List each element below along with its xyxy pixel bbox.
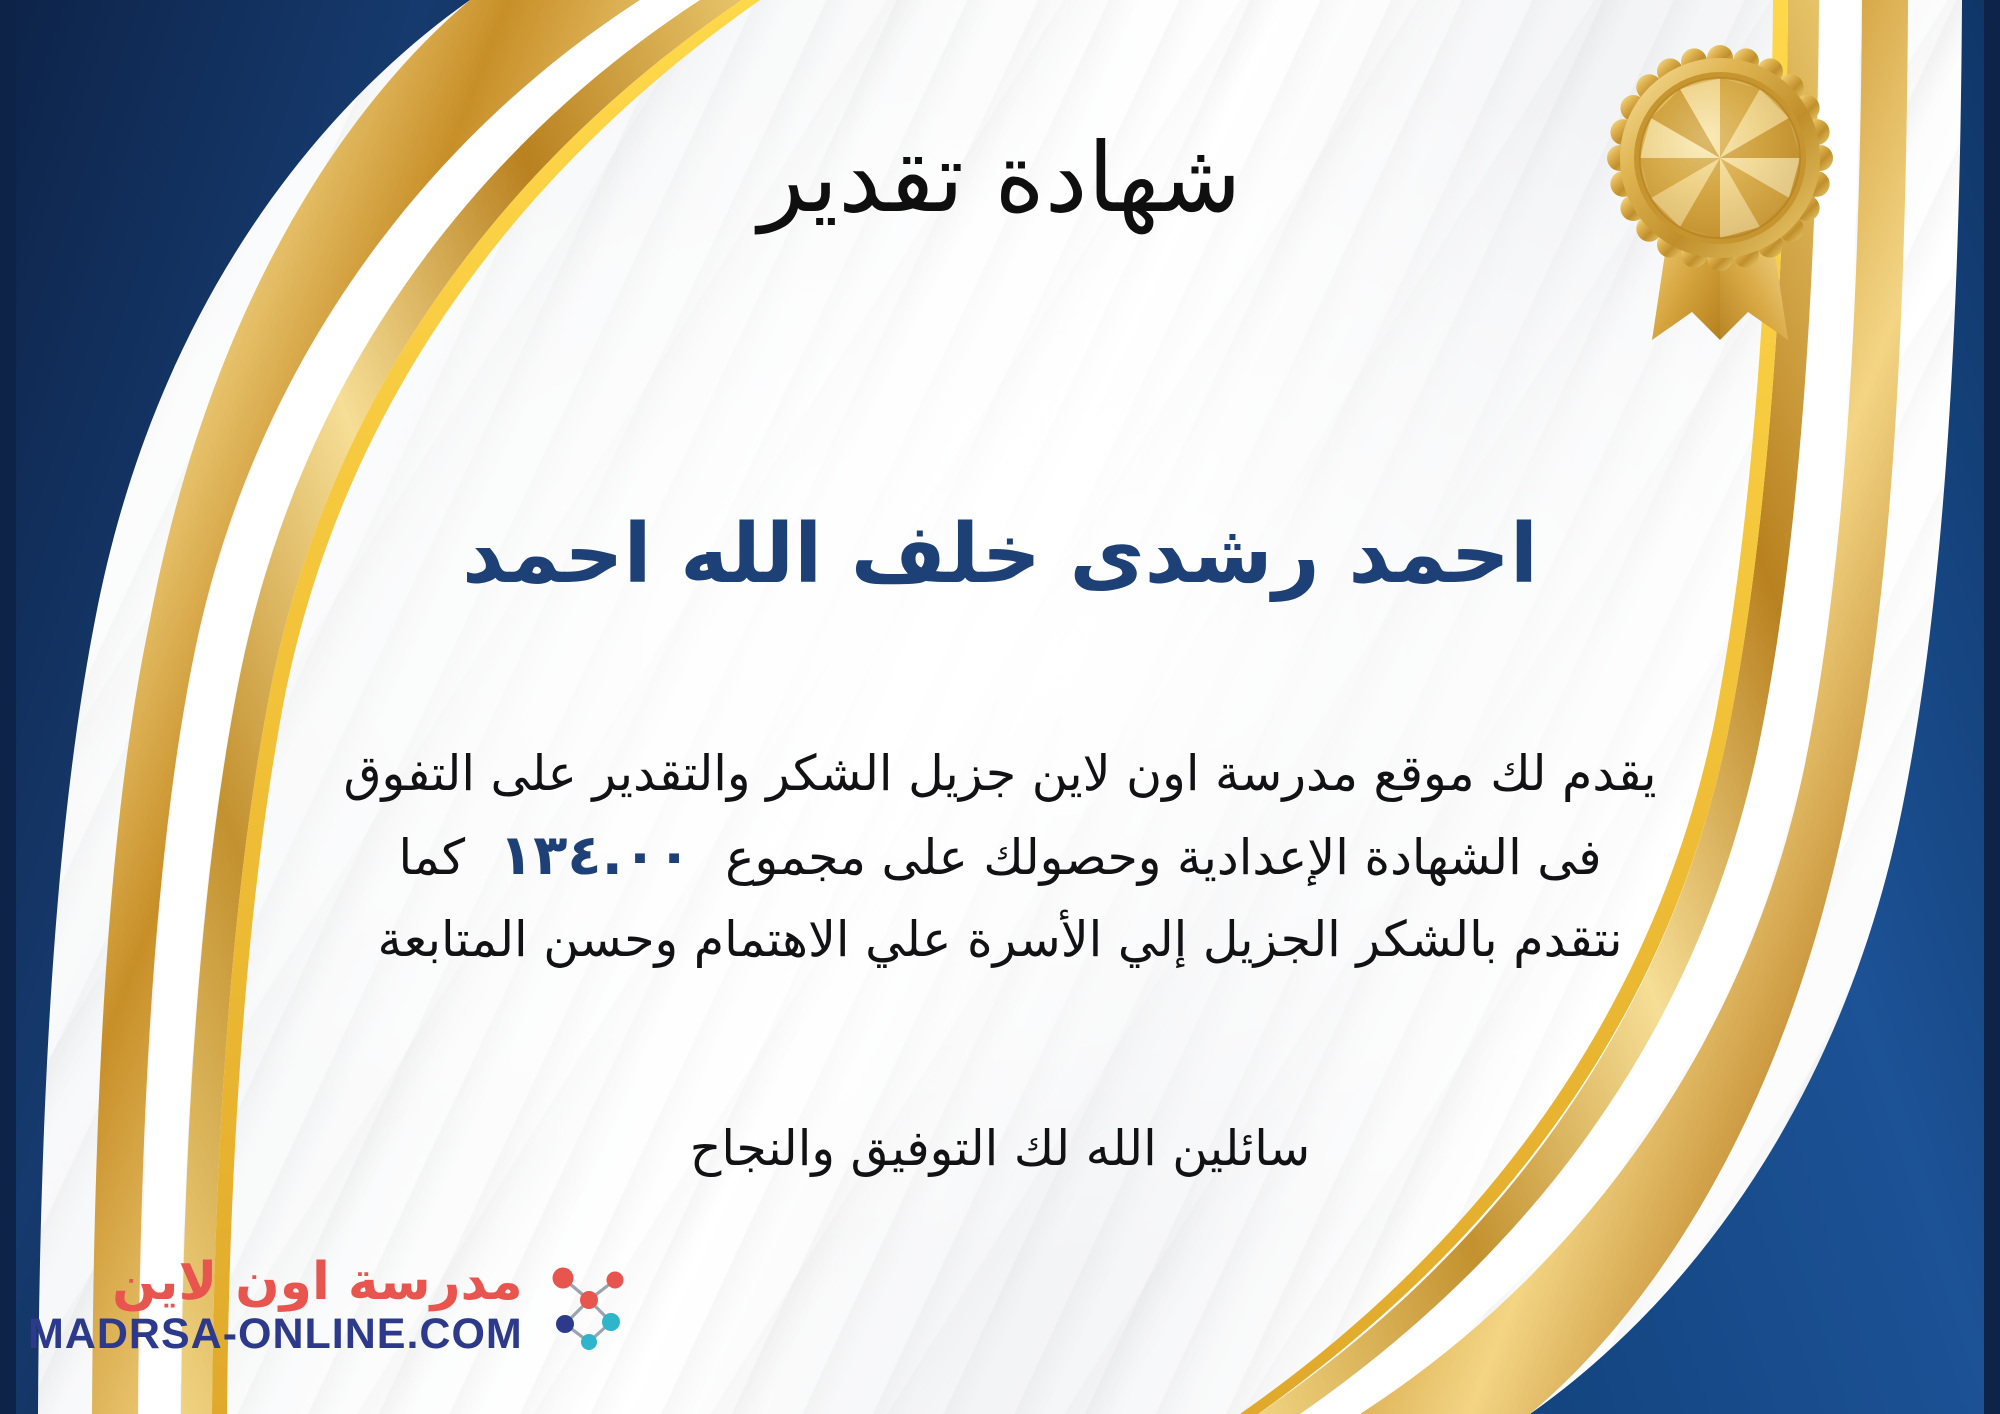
body-line-2: فى الشهادة الإعدادية وحصولك على مجموع١٣٤… <box>60 812 1940 900</box>
certificate-content: شهادة تقدير احمد رشدى خلف الله احمد يقدم… <box>0 0 2000 1414</box>
brand-website-url: MADRSA-ONLINE.COM <box>28 1310 523 1358</box>
certificate-canvas: شهادة تقدير احمد رشدى خلف الله احمد يقدم… <box>0 0 2000 1414</box>
body-line-3: نتقدم بالشكر الجزيل إلي الأسرة علي الاهت… <box>60 901 1940 978</box>
certificate-body: يقدم لك موقع مدرسة اون لاين جزيل الشكر و… <box>60 735 1940 978</box>
recipient-name: احمد رشدى خلف الله احمد <box>0 510 2000 600</box>
body-line-1: يقدم لك موقع مدرسة اون لاين جزيل الشكر و… <box>60 735 1940 812</box>
brand-logo[interactable]: مدرسة اون لاين MADRSA-ONLINE.COM <box>28 1254 498 1384</box>
brand-name-arabic: مدرسة اون لاين <box>112 1254 523 1310</box>
network-nodes-icon <box>537 1258 633 1354</box>
body-line-2-prefix: فى الشهادة الإعدادية وحصولك على مجموع <box>725 829 1601 886</box>
closing-wish: سائلين الله لك التوفيق والنجاح <box>0 1120 2000 1177</box>
certificate-title: شهادة تقدير <box>0 128 2000 229</box>
body-line-2-suffix: كما <box>398 829 465 886</box>
brand-row: مدرسة اون لاين MADRSA-ONLINE.COM <box>28 1254 498 1358</box>
brand-text-block: مدرسة اون لاين MADRSA-ONLINE.COM <box>28 1254 523 1358</box>
grade-total-value: ١٣٤.٠٠ <box>465 823 725 888</box>
